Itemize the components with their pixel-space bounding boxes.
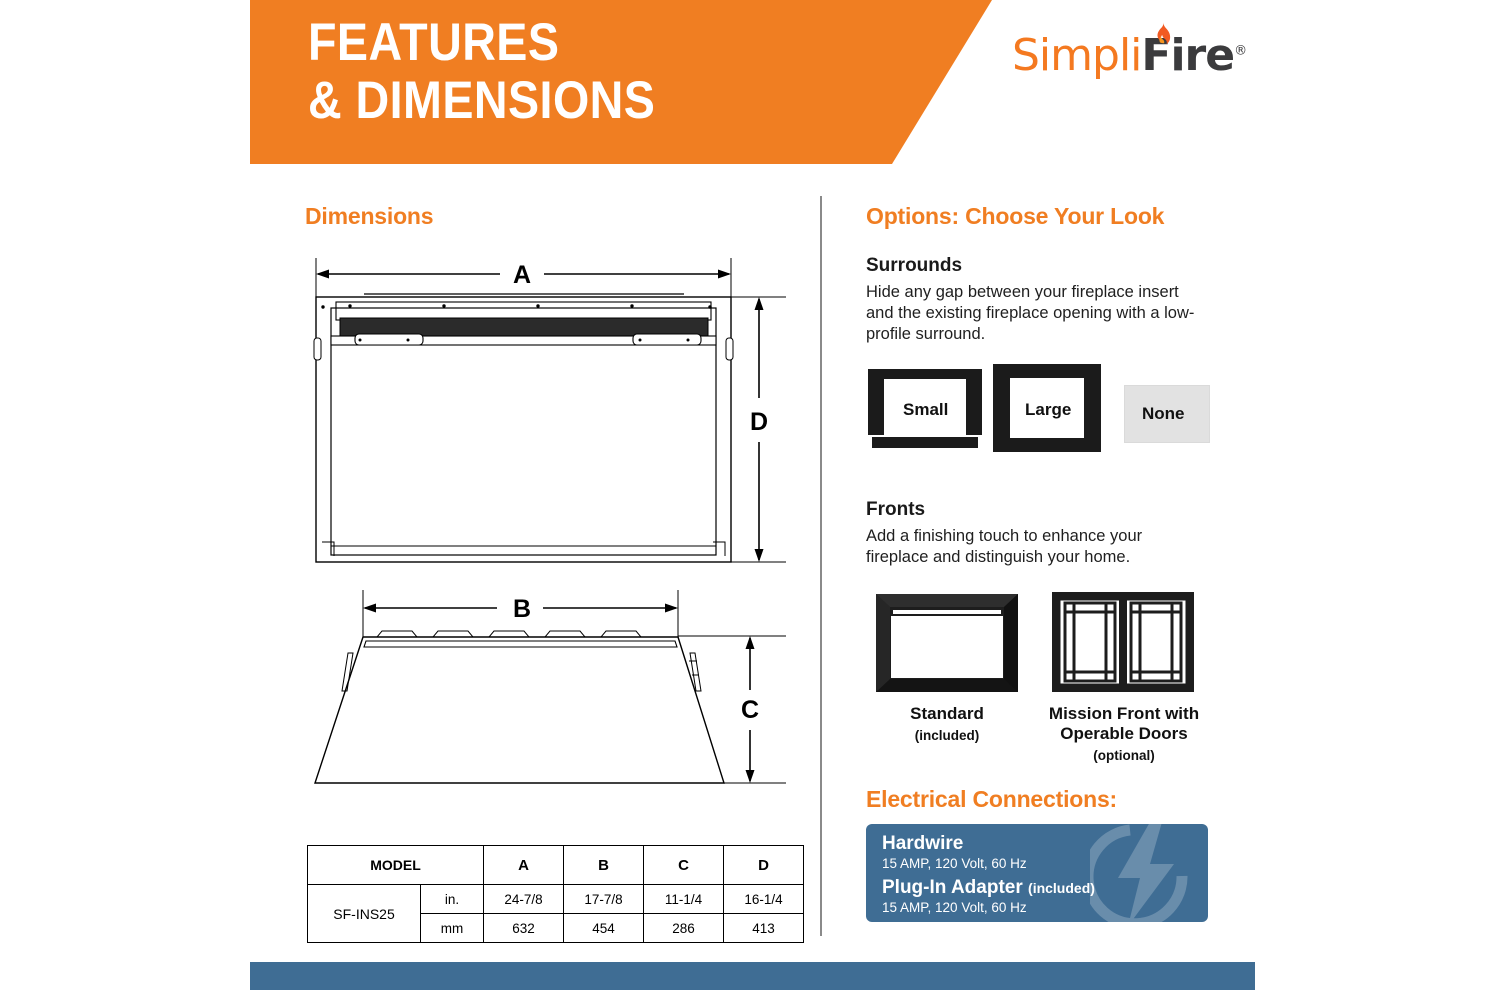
surrounds-heading: Surrounds [866,255,962,277]
front-option-mission[interactable] [1052,592,1194,692]
table-header-c: C [644,846,724,885]
table-header-d: D [724,846,804,885]
page-title-line-1: FEATURES [308,14,801,72]
logo-text-simpli: Simpli [1012,30,1141,81]
dimension-label-b: B [513,595,531,623]
fronts-heading: Fronts [866,499,925,521]
front-option-mission-label: Mission Front with Operable Doors [1049,704,1199,743]
footer-bar [250,962,1255,990]
front-option-standard-caption: Standard (included) [874,704,1020,746]
dimension-label-a: A [513,261,531,289]
dimensions-table: MODEL A B C D SF-INS25 in. 24-7/8 17-7/8… [307,845,804,943]
electrical-item-plugin-label: Plug-In Adapter [882,877,1023,898]
table-row: SF-INS25 in. 24-7/8 17-7/8 11-1/4 16-1/4 [308,885,804,914]
dimension-label-c: C [741,696,759,724]
dimensions-heading: Dimensions [305,203,433,230]
page-title: FEATURES & DIMENSIONS [308,14,801,130]
surround-option-none-label: None [1142,404,1185,424]
front-option-standard-note: (included) [874,726,1020,746]
table-header-a: A [484,846,564,885]
table-cell-in-c: 11-1/4 [644,885,724,914]
lightning-bolt-icon [1090,824,1200,922]
table-cell-mm-c: 286 [644,914,724,943]
flame-icon [1151,22,1173,48]
table-header-model: MODEL [308,846,484,885]
front-option-mission-note: (optional) [1038,746,1210,766]
table-cell-in-d: 16-1/4 [724,885,804,914]
electrical-connections-box: Hardwire 15 AMP, 120 Volt, 60 Hz Plug-In… [866,824,1208,922]
table-cell-model: SF-INS25 [308,885,421,943]
fronts-description: Add a finishing touch to enhance your fi… [866,526,1196,568]
top-view-drawing: B C [300,585,790,805]
surround-option-small-label: Small [903,400,948,420]
table-cell-unit-mm: mm [421,914,484,943]
electrical-item-hardwire-detail: 15 AMP, 120 Volt, 60 Hz [882,856,1027,871]
electrical-item-plugin: Plug-In Adapter (included) 15 AMP, 120 V… [882,877,1095,915]
electrical-item-plugin-title: Plug-In Adapter (included) [882,877,1095,899]
registered-trademark-symbol: ® [1234,43,1246,58]
front-option-mission-caption: Mission Front with Operable Doors (optio… [1038,704,1210,766]
front-view-drawing: A D [300,250,790,580]
electrical-item-plugin-detail: 15 AMP, 120 Volt, 60 Hz [882,900,1095,915]
column-divider [820,196,822,936]
front-option-standard-label: Standard [910,704,984,723]
logo-wordmark: SimpliFire® [1012,30,1246,81]
table-cell-in-b: 17-7/8 [564,885,644,914]
electrical-item-hardwire: Hardwire 15 AMP, 120 Volt, 60 Hz [882,833,1027,871]
table-cell-unit-in: in. [421,885,484,914]
table-header-row: MODEL A B C D [308,846,804,885]
electrical-item-hardwire-title: Hardwire [882,833,1027,855]
surround-option-large-label: Large [1025,400,1071,420]
options-heading: Options: Choose Your Look [866,203,1164,230]
header-banner: FEATURES & DIMENSIONS [0,0,1500,168]
page-title-line-2: & DIMENSIONS [308,72,801,130]
dimension-label-d: D [750,408,768,436]
electrical-item-plugin-note: (included) [1028,880,1095,896]
table-cell-mm-b: 454 [564,914,644,943]
table-header-b: B [564,846,644,885]
table-cell-mm-d: 413 [724,914,804,943]
electrical-heading: Electrical Connections: [866,786,1117,813]
front-option-standard[interactable] [876,594,1018,692]
brand-logo: SimpliFire® [1012,22,1232,80]
surrounds-description: Hide any gap between your fireplace inse… [866,282,1196,345]
table-cell-in-a: 24-7/8 [484,885,564,914]
table-cell-mm-a: 632 [484,914,564,943]
